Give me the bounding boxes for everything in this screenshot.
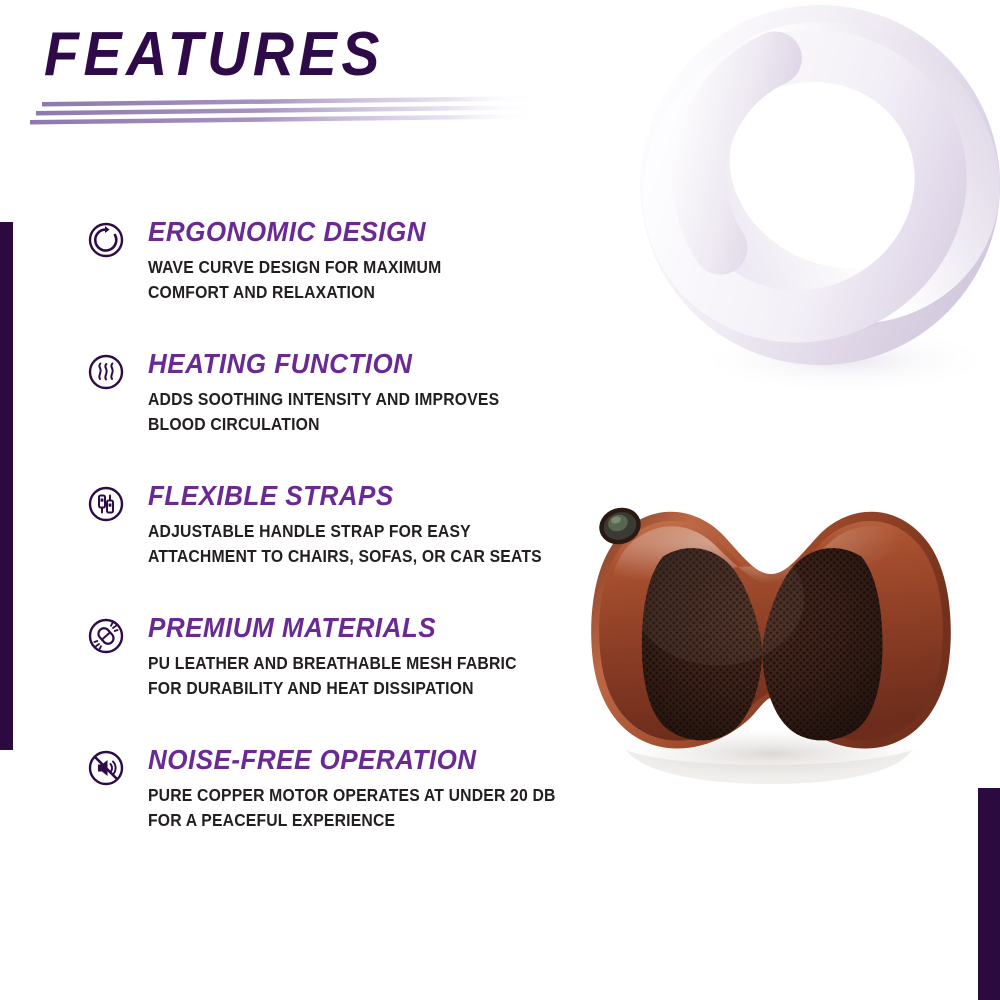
- page-title: FEATURES: [44, 22, 614, 87]
- heat-waves-icon: [86, 352, 126, 392]
- header: FEATURES: [44, 22, 664, 87]
- feature-item-flexible-straps: FLEXIBLE STRAPS ADJUSTABLE HANDLE STRAP …: [86, 482, 586, 590]
- feature-title: PREMIUM MATERIALS: [148, 614, 555, 642]
- feature-desc-line: BLOOD CIRCULATION: [148, 412, 542, 437]
- feature-item-noise-free-operation: NOISE-FREE OPERATION PURE COPPER MOTOR O…: [86, 746, 586, 854]
- feature-item-premium-materials: PREMIUM MATERIALS PU LEATHER AND BREATHA…: [86, 614, 586, 722]
- feature-description: WAVE CURVE DESIGN FOR MAXIMUM COMFORT AN…: [148, 255, 542, 305]
- feature-desc-line: WAVE CURVE DESIGN FOR MAXIMUM: [148, 255, 542, 280]
- product-image-massage-pillow: [556, 462, 986, 792]
- feature-item-heating-function: HEATING FUNCTION ADDS SOOTHING INTENSITY…: [86, 350, 586, 458]
- feature-description: ADJUSTABLE HANDLE STRAP FOR EASY ATTACHM…: [148, 519, 542, 569]
- feature-desc-line: ADDS SOOTHING INTENSITY AND IMPROVES: [148, 387, 542, 412]
- feature-desc-line: FOR A PEACEFUL EXPERIENCE: [148, 808, 542, 833]
- feature-desc-line: PURE COPPER MOTOR OPERATES AT UNDER 20 D…: [148, 783, 542, 808]
- feature-title: HEATING FUNCTION: [148, 350, 555, 378]
- strap-buckle-icon: [86, 484, 126, 524]
- feature-desc-line: PU LEATHER AND BREATHABLE MESH FABRIC: [148, 651, 542, 676]
- feature-title: FLEXIBLE STRAPS: [148, 482, 555, 510]
- features-list: ERGONOMIC DESIGN WAVE CURVE DESIGN FOR M…: [86, 218, 586, 878]
- right-accent-bar: [978, 788, 1000, 1000]
- feature-description: PURE COPPER MOTOR OPERATES AT UNDER 20 D…: [148, 783, 542, 833]
- feature-title: ERGONOMIC DESIGN: [148, 218, 555, 246]
- infographic-page: FEATURES: [0, 0, 1000, 1000]
- feature-title: NOISE-FREE OPERATION: [148, 746, 555, 774]
- feature-desc-line: COMFORT AND RELAXATION: [148, 280, 542, 305]
- feature-desc-line: ATTACHMENT TO CHAIRS, SOFAS, OR CAR SEAT…: [148, 544, 542, 569]
- rotate-cycle-icon: [86, 220, 126, 260]
- feature-desc-line: ADJUSTABLE HANDLE STRAP FOR EASY: [148, 519, 542, 544]
- feature-item-ergonomic-design: ERGONOMIC DESIGN WAVE CURVE DESIGN FOR M…: [86, 218, 586, 326]
- chain-link-sparkle-icon: [86, 616, 126, 656]
- torus-knot-icon: [610, 0, 1000, 440]
- feature-desc-line: FOR DURABILITY AND HEAT DISSIPATION: [148, 676, 542, 701]
- muted-speaker-icon: [86, 748, 126, 788]
- feature-description: ADDS SOOTHING INTENSITY AND IMPROVES BLO…: [148, 387, 542, 437]
- left-accent-bar: [0, 222, 13, 750]
- feature-description: PU LEATHER AND BREATHABLE MESH FABRIC FO…: [148, 651, 542, 701]
- title-underline-rules: [20, 96, 540, 130]
